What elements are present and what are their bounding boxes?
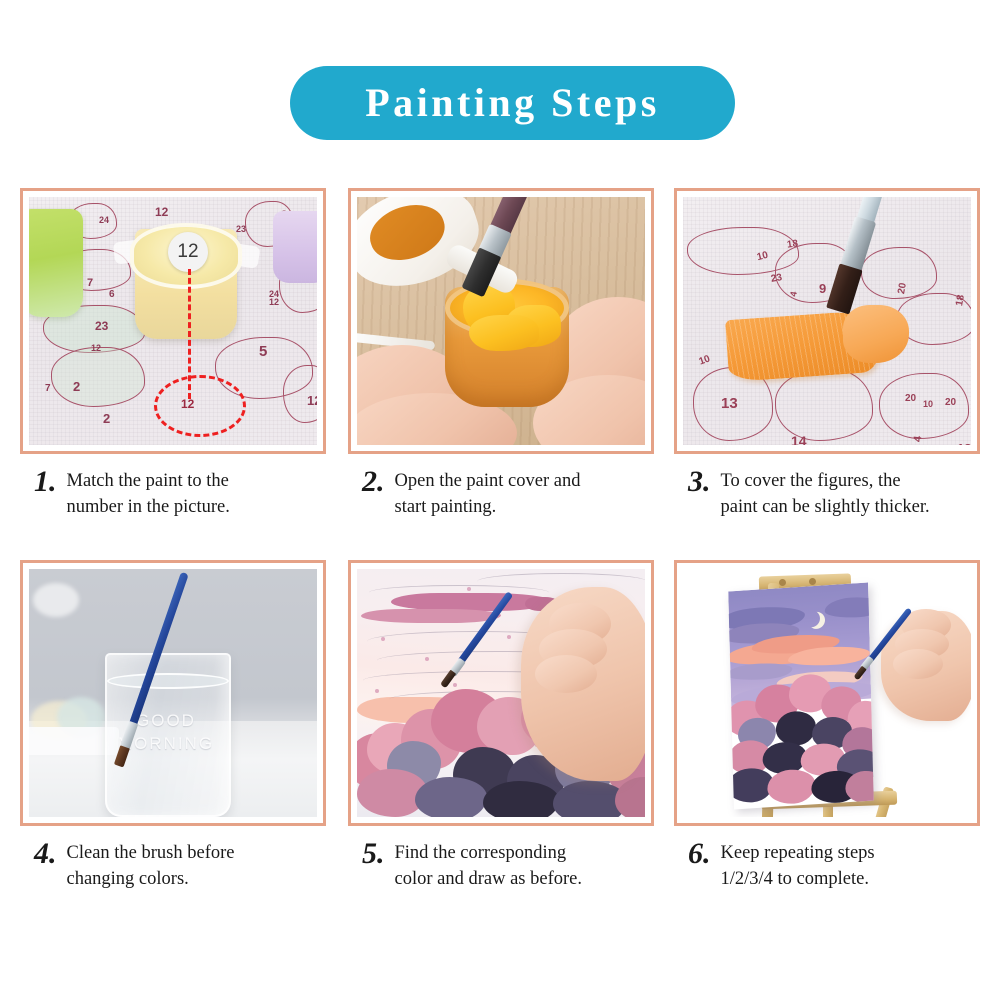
step-card-4: GOOD MORNING 4. Clean the brush before c… xyxy=(20,560,332,892)
canvas-number: 12 xyxy=(91,343,101,353)
page-title-banner: Painting Steps xyxy=(290,66,735,140)
paint-blob xyxy=(469,315,539,351)
step-1-image: 12 2 24 23 7 6 23 12 2 7 2 5 24 12 12 12 xyxy=(29,197,317,445)
step-3-photo-frame: 10 18 23 9 4 20 18 10 20 13 20 10 20 14 … xyxy=(674,188,980,454)
canvas-number: 7 xyxy=(45,383,51,394)
step-3-text: To cover the figures, the paint can be s… xyxy=(721,468,987,520)
canvas-number: 2 xyxy=(103,411,110,426)
step-1-number: 1. xyxy=(34,468,57,495)
water-surface xyxy=(107,673,229,689)
step-6-caption: 6. Keep repeating steps 1/2/3/4 to compl… xyxy=(674,840,986,892)
step-6-text: Keep repeating steps 1/2/3/4 to complete… xyxy=(721,840,987,892)
canvas-number: 18 xyxy=(954,294,967,307)
page-title: Painting Steps xyxy=(365,83,660,123)
blossom-cluster xyxy=(775,710,816,747)
step-3-number: 3. xyxy=(688,468,711,495)
canvas-number-dot xyxy=(425,657,429,661)
easel-knob xyxy=(779,579,786,586)
step-card-1: 12 2 24 23 7 6 23 12 2 7 2 5 24 12 12 12 xyxy=(20,188,332,520)
step-5-caption: 5. Find the corresponding color and draw… xyxy=(348,840,660,892)
thumb xyxy=(893,649,943,679)
step-1-caption: 1. Match the paint to the number in the … xyxy=(20,468,332,520)
canvas-number: 7 xyxy=(87,277,93,289)
canvas-number: 23 xyxy=(770,272,783,285)
finished-canvas xyxy=(728,583,874,810)
canvas-number-dot xyxy=(381,637,385,641)
canvas-number: 12 xyxy=(269,297,279,307)
canvas-number: 12 xyxy=(307,393,317,408)
step-4-image: GOOD MORNING xyxy=(29,569,317,817)
canvas-number-dot xyxy=(467,587,471,591)
step-3-caption: 3. To cover the figures, the paint can b… xyxy=(674,468,986,520)
glass-label-line-1: GOOD xyxy=(105,709,227,732)
canvas-number: 12 xyxy=(155,205,168,219)
step-5-number: 5. xyxy=(362,840,385,867)
canvas-number: 20 xyxy=(896,282,909,295)
step-card-5: 5. Find the corresponding color and draw… xyxy=(348,560,660,892)
step-4-text: Clean the brush before changing colors. xyxy=(67,840,333,892)
thumb xyxy=(535,655,597,693)
canvas-outline xyxy=(477,573,645,590)
lid-paint-residue xyxy=(363,197,451,269)
step-2-number: 2. xyxy=(362,468,385,495)
canvas-number: 23 xyxy=(95,319,108,333)
painted-cloud-band xyxy=(361,609,501,623)
callout-target-number: 12 xyxy=(181,397,194,411)
canvas-number: 2 xyxy=(73,379,80,394)
canvas-number: 6 xyxy=(109,289,115,300)
canvas-number: 10 xyxy=(923,399,933,409)
step-6-photo-frame xyxy=(674,560,980,826)
step-card-2: 2. Open the paint cover and start painti… xyxy=(348,188,660,520)
canvas-number: 23 xyxy=(236,224,246,234)
step-4-number: 4. xyxy=(34,840,57,867)
callout-dashed-ellipse xyxy=(154,375,246,437)
canvas-number: 20 xyxy=(945,397,956,408)
canvas-number: 24 xyxy=(99,215,109,225)
step-1-text: Match the paint to the number in the pic… xyxy=(67,468,333,520)
step-card-3: 10 18 23 9 4 20 18 10 20 13 20 10 20 14 … xyxy=(674,188,986,520)
step-4-caption: 4. Clean the brush before changing color… xyxy=(20,840,332,892)
canvas-number: 13 xyxy=(721,395,738,412)
step-2-image xyxy=(357,197,645,445)
step-5-photo-frame xyxy=(348,560,654,826)
blossom-cluster xyxy=(767,768,816,805)
canvas-number: 13 xyxy=(957,441,971,445)
step-3-image: 10 18 23 9 4 20 18 10 20 13 20 10 20 14 … xyxy=(683,197,971,445)
canvas-outline-shape xyxy=(775,369,873,441)
step-4-photo-frame: GOOD MORNING xyxy=(20,560,326,826)
canvas-number-dot xyxy=(507,635,511,639)
purple-paint-pot xyxy=(273,211,317,283)
step-2-caption: 2. Open the paint cover and start painti… xyxy=(348,468,660,520)
canvas-outline-shape xyxy=(51,347,145,407)
step-1-photo-frame: 12 2 24 23 7 6 23 12 2 7 2 5 24 12 12 12 xyxy=(20,188,326,454)
step-6-number: 6. xyxy=(688,840,711,867)
canvas-number: 5 xyxy=(259,343,267,360)
canvas-number: 14 xyxy=(791,433,807,445)
paint-number-badge: 12 xyxy=(168,232,208,272)
blossom-cluster xyxy=(483,781,559,817)
easel-knob xyxy=(809,578,816,585)
step-2-photo-frame xyxy=(348,188,654,454)
painted-blossoms xyxy=(731,674,874,809)
step-5-text: Find the corresponding color and draw as… xyxy=(395,840,661,892)
canvas-number: 4 xyxy=(912,435,925,442)
background-object xyxy=(33,583,79,617)
blossom-cluster xyxy=(415,777,487,817)
step-2-text: Open the paint cover and start painting. xyxy=(395,468,661,520)
step-6-image xyxy=(683,569,971,817)
step-card-6: 6. Keep repeating steps 1/2/3/4 to compl… xyxy=(674,560,986,892)
canvas-number: 20 xyxy=(905,393,916,404)
canvas-number: 18 xyxy=(786,238,799,250)
green-paint-pot xyxy=(29,209,83,317)
step-5-image xyxy=(357,569,645,817)
